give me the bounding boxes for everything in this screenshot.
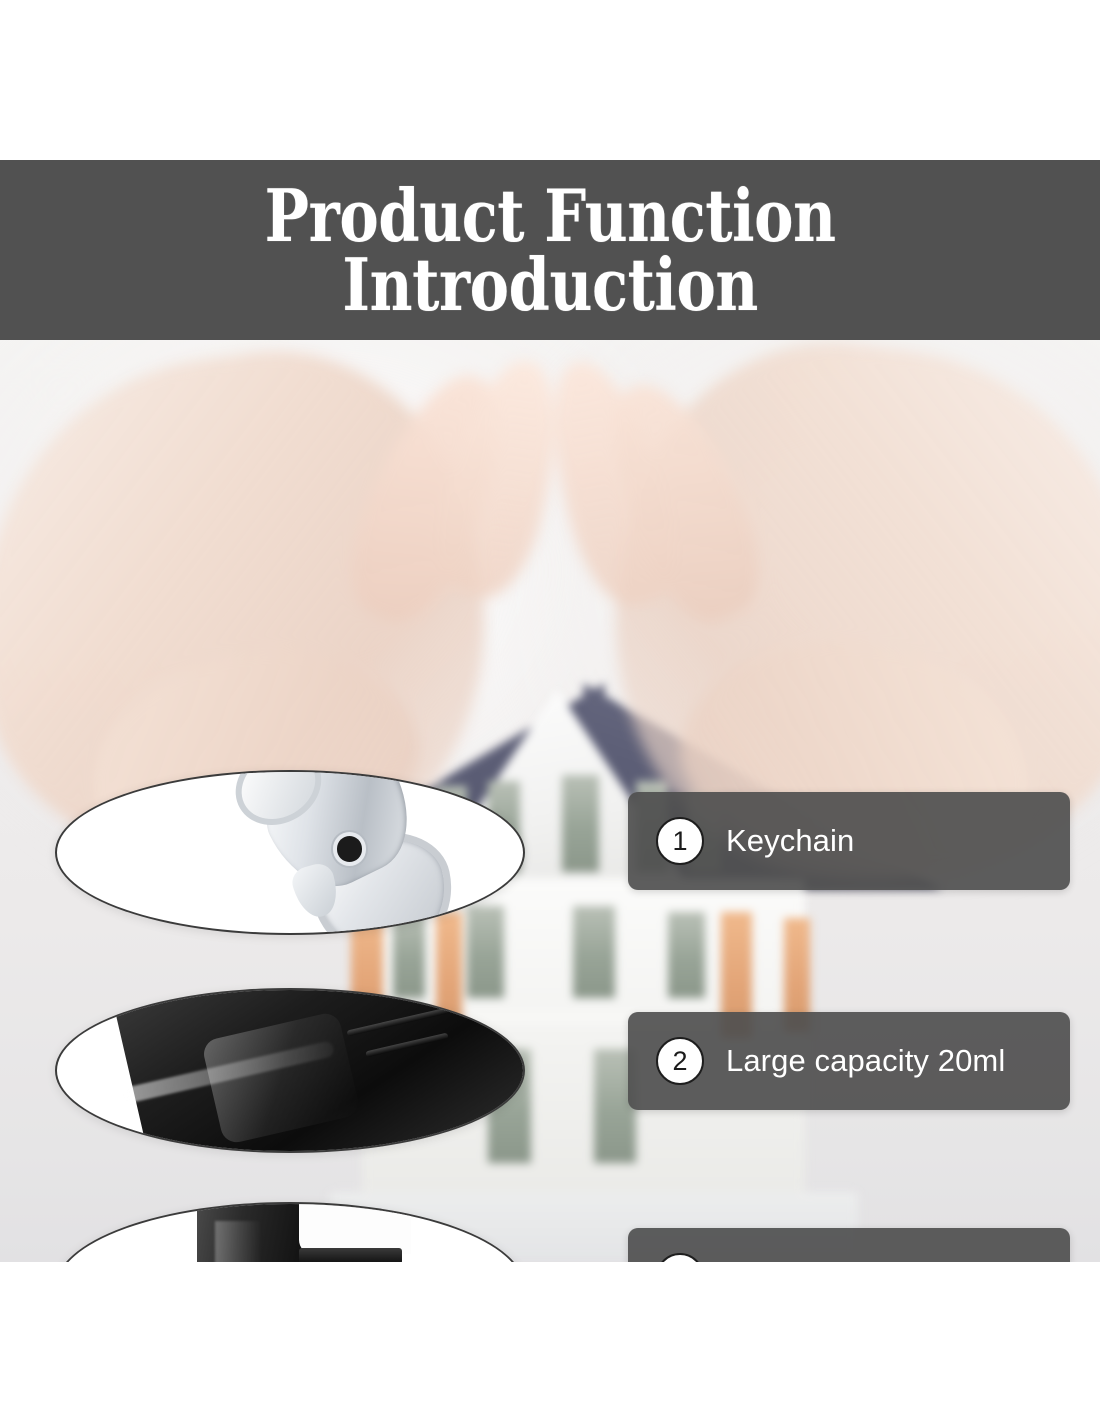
feature-item-3[interactable]: 3 Press type nozzle [628, 1228, 1070, 1262]
press-nozzle-photo [57, 1204, 523, 1262]
clasp-rivet [337, 836, 363, 862]
feature-label-2: Large capacity 20ml [726, 1043, 1005, 1079]
bottle-body-photo [57, 990, 523, 1151]
feature-number-badge-3: 3 [656, 1253, 704, 1262]
nozzle-cap-sheen [215, 1221, 262, 1262]
feature-item-1[interactable]: 1 Keychain [628, 792, 1070, 890]
background-photo: 1 Keychain 2 Large capacity 20ml 3 Press… [0, 340, 1100, 1262]
feature-photo-oval-1 [55, 770, 525, 935]
feature-photo-oval-3 [55, 1202, 525, 1262]
product-infographic: Product Function Introduction [0, 0, 1100, 1422]
feature-number-badge-2: 2 [656, 1037, 704, 1085]
nozzle-cap-notch [299, 1202, 411, 1254]
feature-number-badge-1: 1 [656, 817, 704, 865]
nozzle-cap-lip [299, 1248, 402, 1262]
keychain-clasp-photo [57, 772, 523, 933]
header-band: Product Function Introduction [0, 160, 1100, 340]
bottom-white-margin [0, 1262, 1100, 1422]
feature-label-1: Keychain [726, 823, 854, 859]
feature-photo-oval-2 [55, 988, 525, 1153]
top-white-margin [0, 0, 1100, 160]
feature-item-2[interactable]: 2 Large capacity 20ml [628, 1012, 1070, 1110]
page-title: Product Function Introduction [264, 181, 835, 319]
